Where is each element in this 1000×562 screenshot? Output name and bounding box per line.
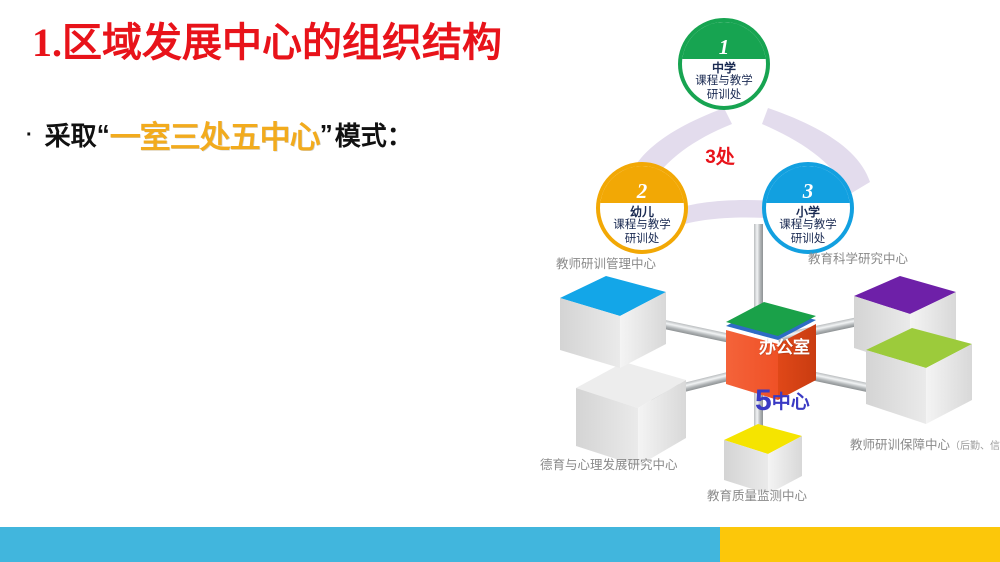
- bullet-dot: ·: [26, 125, 33, 145]
- circle-2-number: 2: [637, 181, 648, 202]
- circle-2-cap: 2: [600, 166, 684, 203]
- label-teacher-training-management: 教师研训管理中心: [556, 256, 656, 273]
- circle-kindergarten[interactable]: 2 幼儿 课程与教学 研训处: [596, 162, 688, 254]
- label-five-centers-number: 5: [755, 384, 772, 417]
- bullet-highlight: 一室三处五中心: [110, 112, 320, 157]
- circle-1-body: 中学 课程与教学 研训处: [682, 59, 766, 102]
- label-training-support-note: （后勤、信息）: [950, 441, 1000, 452]
- bullet-line: · 采取 “ 一室三处五中心 ” 模式：: [26, 112, 413, 157]
- label-five-centers: 5中心: [755, 386, 810, 416]
- circle-3-cap: 3: [766, 166, 850, 203]
- circle-1-title: 中学: [682, 61, 766, 75]
- label-five-centers-text: 中心: [772, 392, 810, 413]
- circle-1-line2: 课程与教学: [682, 75, 766, 89]
- circle-1-line3: 研训处: [682, 89, 766, 103]
- label-training-support: 教师研训保障中心（后勤、信息）: [850, 437, 1000, 454]
- circle-3-body: 小学 课程与教学 研训处: [766, 203, 850, 246]
- label-moral-psych-research: 德育与心理发展研究中心: [540, 457, 678, 474]
- circle-1-cap: 1: [682, 22, 766, 59]
- quote-open: “: [97, 119, 110, 150]
- circle-3-line3: 研训处: [766, 233, 850, 247]
- bullet-suffix: 模式：: [335, 116, 413, 153]
- circle-1-number: 1: [719, 37, 730, 58]
- circle-2-line2: 课程与教学: [600, 219, 684, 233]
- circle-3-line2: 课程与教学: [766, 219, 850, 233]
- label-quality-monitoring: 教育质量监测中心: [707, 488, 807, 505]
- title-text: 区域发展中心的组织结构: [62, 21, 502, 65]
- cube-teacher-training-management: [560, 276, 666, 368]
- quote-close: ”: [320, 119, 333, 150]
- circle-middle-school[interactable]: 1 中学 课程与教学 研训处: [678, 18, 770, 110]
- label-office: 办公室: [759, 333, 810, 358]
- circle-3-number: 3: [803, 181, 814, 202]
- circle-2-title: 幼儿: [600, 205, 684, 219]
- footer-bar-right: [720, 527, 1000, 562]
- cube-moral-education: [576, 362, 686, 466]
- cube-quality-monitoring: [724, 424, 802, 494]
- label-training-support-main: 教师研训保障中心: [850, 438, 950, 452]
- label-education-science-research: 教育科学研究中心: [808, 251, 908, 268]
- circle-3-title: 小学: [766, 205, 850, 219]
- label-three-departments: 3处: [705, 142, 735, 169]
- bullet-prefix: 采取: [45, 116, 97, 153]
- org-structure-diagram: 1 中学 课程与教学 研训处 2 幼儿 课程与教学 研训处 3 小学 课程与教学…: [520, 0, 1000, 520]
- footer-bar-left: [0, 527, 720, 562]
- circle-2-body: 幼儿 课程与教学 研训处: [600, 203, 684, 246]
- cube-top-center: [726, 302, 816, 336]
- circle-2-line3: 研训处: [600, 233, 684, 247]
- page-title: 1.区域发展中心的组织结构: [32, 20, 502, 66]
- cube-training-support: [866, 328, 972, 424]
- circle-primary-school[interactable]: 3 小学 课程与教学 研训处: [762, 162, 854, 254]
- title-number: 1.: [32, 20, 62, 65]
- footer-bar: [0, 527, 1000, 562]
